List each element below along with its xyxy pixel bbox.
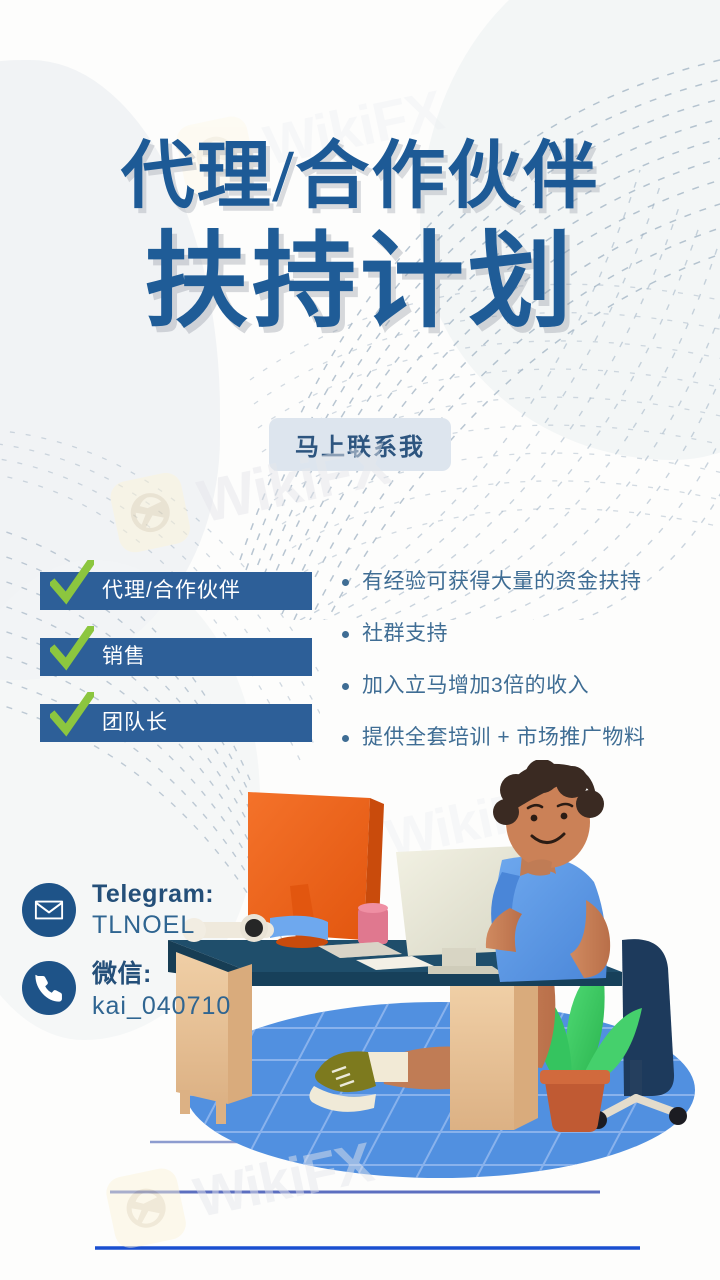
contact-me-badge[interactable]: 马上联系我 bbox=[269, 418, 451, 471]
role-item[interactable]: 销售 bbox=[40, 638, 312, 676]
poster-canvas: WikiFX 代理/合作伙伴 扶持计划 马上联系我 WikiFX 代理/合作伙伴 bbox=[0, 0, 720, 1280]
contact-text-telegram: Telegram: TLNOEL bbox=[92, 880, 214, 940]
bullet-dot-icon bbox=[342, 631, 349, 638]
role-label: 团队长 bbox=[102, 704, 168, 742]
benefit-text: 提供全套培训 + 市场推广物料 bbox=[362, 726, 645, 750]
title-line-1: 代理/合作伙伴 bbox=[0, 140, 720, 214]
cta-badge-row: 马上联系我 bbox=[0, 418, 720, 471]
poster-title: 代理/合作伙伴 扶持计划 bbox=[0, 140, 720, 334]
benefit-item: 加入立马增加3倍的收入 bbox=[342, 674, 712, 698]
role-item[interactable]: 团队长 bbox=[40, 704, 312, 742]
coffee-cup bbox=[358, 903, 388, 944]
benefits-list: 有经验可获得大量的资金扶持 社群支持 加入立马增加3倍的收入 提供全套培训 + … bbox=[342, 570, 712, 779]
eagle-glyph bbox=[119, 482, 181, 544]
benefit-item: 提供全套培训 + 市场推广物料 bbox=[342, 726, 712, 750]
contact-block: Telegram: TLNOEL 微信: kai_040710 bbox=[22, 880, 342, 1035]
role-list: 代理/合作伙伴 销售 团队长 bbox=[40, 572, 312, 770]
role-label: 销售 bbox=[102, 638, 146, 676]
bullet-dot-icon bbox=[342, 579, 349, 586]
title-line-2: 扶持计划 bbox=[0, 230, 720, 334]
check-icon bbox=[50, 626, 94, 672]
contact-text-wechat: 微信: kai_040710 bbox=[92, 954, 231, 1021]
benefit-text: 加入立马增加3倍的收入 bbox=[362, 674, 589, 698]
envelope-icon bbox=[22, 883, 76, 937]
check-icon bbox=[50, 560, 94, 606]
bullet-dot-icon bbox=[342, 683, 349, 690]
envelope-glyph bbox=[34, 895, 64, 925]
contact-value[interactable]: kai_040710 bbox=[92, 992, 231, 1021]
person-body bbox=[486, 760, 610, 982]
benefit-text: 有经验可获得大量的资金扶持 bbox=[362, 570, 642, 594]
wikifx-eagle-logo-icon bbox=[108, 470, 193, 555]
contact-label: Telegram: bbox=[92, 880, 214, 909]
role-item[interactable]: 代理/合作伙伴 bbox=[40, 572, 312, 610]
benefit-text: 社群支持 bbox=[362, 622, 448, 646]
bullet-dot-icon bbox=[342, 735, 349, 742]
contact-row-telegram[interactable]: Telegram: TLNOEL bbox=[22, 880, 342, 940]
phone-glyph bbox=[34, 973, 64, 1003]
contact-row-wechat[interactable]: 微信: kai_040710 bbox=[22, 954, 342, 1021]
contact-value[interactable]: TLNOEL bbox=[92, 911, 214, 940]
benefit-item: 社群支持 bbox=[342, 622, 712, 646]
check-icon bbox=[50, 692, 94, 738]
contact-label: 微信: bbox=[92, 954, 231, 990]
phone-icon bbox=[22, 961, 76, 1015]
role-label: 代理/合作伙伴 bbox=[102, 572, 241, 610]
benefit-item: 有经验可获得大量的资金扶持 bbox=[342, 570, 712, 594]
